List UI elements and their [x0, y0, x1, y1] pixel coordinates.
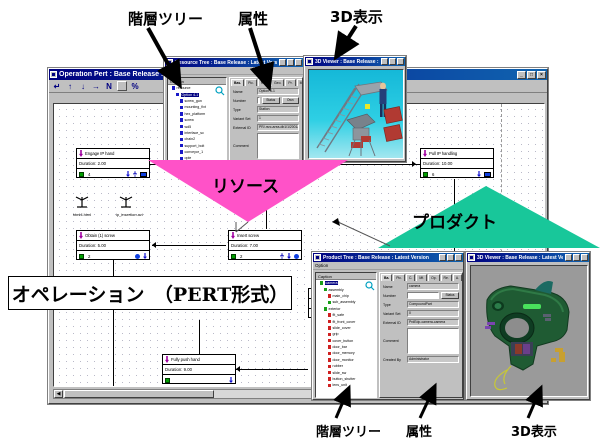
- tree-item-label: flt_safe: [333, 313, 345, 317]
- tree-item-label: hex_platform: [185, 112, 206, 116]
- callout-bottom-tree: 階層ツリー: [316, 421, 381, 440]
- tree-item-label: mounting_fixt: [185, 105, 206, 109]
- product-tree-window-buttons[interactable]: [439, 254, 462, 261]
- attribute-tab[interactable]: C.: [406, 274, 415, 281]
- box-icon[interactable]: [484, 172, 491, 177]
- document-icon[interactable]: html4.html: [72, 196, 92, 217]
- attribute-label: Name: [383, 285, 405, 289]
- attribute-label: Variant Set: [233, 117, 255, 121]
- tree-node-icon[interactable]: [324, 307, 328, 311]
- maximize-button[interactable]: [287, 59, 294, 66]
- attribute-textarea[interactable]: [407, 328, 459, 354]
- tree-node-icon[interactable]: [180, 125, 184, 129]
- window-app-icon: [468, 254, 475, 261]
- callout-top-3d: 3D表示: [330, 6, 383, 27]
- attribute-value[interactable]: PR/-rsrc-area-db1/1/2001/51/0/0/0/0: [257, 124, 299, 131]
- attribute-value[interactable]: 0: [407, 310, 459, 317]
- attribute-value[interactable]: [257, 97, 260, 104]
- resource-label: リソース: [212, 172, 279, 197]
- blue-icon[interactable]: [143, 253, 147, 259]
- pert-node-title: Engage IP hand: [85, 151, 114, 156]
- blue-icon[interactable]: [287, 253, 291, 259]
- viewer3d-top-title: 3D Viewer : Base Release : Latest Versio…: [315, 59, 379, 65]
- attribute-row: Created ByAdministrator: [383, 356, 459, 363]
- tree-node-icon[interactable]: [324, 288, 328, 292]
- product-label: プロダクト: [412, 208, 497, 233]
- viewer3d-bottom-scene: [471, 266, 588, 397]
- callout-bottom-3d: 3D表示: [511, 421, 557, 440]
- tree-column-header: Caption: [316, 273, 376, 280]
- product-tree-titlebar[interactable]: Product Tree : Base Release : Latest Ver…: [313, 253, 463, 262]
- operation-pert-label: オペレーション （PERT形式）: [12, 280, 289, 307]
- attribute-tab[interactable]: Pic.: [245, 79, 257, 86]
- callout-top-tree: 階層ツリー: [128, 8, 203, 29]
- window-app-icon: [306, 58, 313, 65]
- right-arrow-icon[interactable]: →: [91, 81, 101, 91]
- menu-option[interactable]: Option: [315, 263, 328, 268]
- attribute-label: Name: [233, 90, 255, 94]
- minimize-button[interactable]: [381, 58, 388, 65]
- window-app-icon: [50, 71, 57, 78]
- minimize-button[interactable]: [439, 254, 446, 261]
- product-tree-window[interactable]: Product Tree : Base Release : Latest Ver…: [312, 252, 464, 400]
- attribute-row: NameOption 4-1: [233, 88, 299, 95]
- tree-item-label: resource: [177, 86, 191, 90]
- attribute-tab[interactable]: Pic.: [393, 274, 405, 281]
- product-attribute-panel[interactable]: Ba.Pic.C.Mf.Op.Re.A.A. NamecameraNumberS…: [379, 272, 463, 398]
- pert-node[interactable]: Pull IP handlingDuration: 10.006: [420, 148, 494, 178]
- pert-node-header: Pull IP handling: [421, 149, 493, 159]
- status-square-icon: [79, 172, 84, 177]
- close-button[interactable]: [397, 58, 404, 65]
- tree-node-icon[interactable]: [180, 99, 184, 103]
- resource-attribute-fields[interactable]: NameOption 4-1NumberStatusOwnTypeStation…: [230, 88, 302, 163]
- pert-node[interactable]: Engage IP handDuration: 2.004: [76, 148, 150, 178]
- maximize-button[interactable]: [447, 254, 454, 261]
- status-square-icon: [165, 378, 170, 383]
- tree-node-icon[interactable]: [328, 339, 332, 343]
- tree-item-label: support_bolt: [185, 144, 205, 148]
- tree-item-label: sub_assembly: [333, 300, 356, 304]
- attribute-tab[interactable]: Mf.: [416, 274, 427, 281]
- viewer3d-bottom-title: 3D Viewer : Base Release : Latest Versio…: [477, 255, 563, 261]
- resource-tree-window[interactable]: Resource Tree : Base Release : Latest Ve…: [164, 57, 304, 165]
- viewer3d-top-window-buttons[interactable]: [381, 58, 404, 65]
- attribute-tab[interactable]: Pr.: [285, 79, 295, 86]
- tree-item-label: slide_sw: [333, 371, 347, 375]
- pert-node-count: 2: [240, 254, 242, 259]
- tree-item-label: Option 4-1: [181, 93, 200, 97]
- status-square-icon: [423, 172, 428, 177]
- document-icon[interactable]: ip_insertion.avi: [116, 196, 136, 217]
- attribute-row: External IDPR/-rsrc-area-db1/1/2001/51/0…: [233, 124, 299, 131]
- pert-node-duration: Duration: 2.00: [77, 159, 149, 169]
- screenshot-root: Operation Pert : Base Release : Latest V…: [0, 0, 600, 448]
- blue-icon[interactable]: [126, 171, 130, 177]
- attribute-tab[interactable]: Re.: [441, 274, 452, 281]
- attribute-row: NumberStatus: [383, 292, 459, 299]
- tree-item-label: flt_front_cover: [333, 320, 356, 324]
- tree-item-label: slide_cover: [333, 326, 351, 330]
- attribute-row: TypeCompoundPart: [383, 301, 459, 308]
- pert-node-duration: Duration: 9.00: [163, 365, 235, 375]
- pin-icon: [79, 232, 83, 239]
- product-tree-title: Product Tree : Base Release : Latest Ver…: [323, 255, 437, 261]
- viewer3d-bottom-window[interactable]: 3D Viewer : Base Release : Latest Versio…: [466, 252, 590, 400]
- blue-icon[interactable]: [477, 171, 481, 177]
- product-tree-menubar[interactable]: Option: [313, 262, 463, 270]
- tree-item-label: door_bar: [333, 345, 347, 349]
- tree-node-icon[interactable]: [180, 138, 184, 142]
- pin-icon: [165, 356, 169, 363]
- viewer3d-top-titlebar[interactable]: 3D Viewer : Base Release : Latest Versio…: [305, 57, 405, 66]
- tree-node-icon[interactable]: [328, 365, 332, 369]
- pert-node-count: 2: [88, 254, 90, 259]
- maximize-button[interactable]: [389, 58, 396, 65]
- person-icon[interactable]: [280, 253, 284, 259]
- document-icon-label: ip_insertion.avi: [116, 212, 136, 217]
- circ-icon[interactable]: [294, 254, 299, 259]
- resource-tree-list[interactable]: resourceOption 4-1screw_gunmounting_fixt…: [168, 85, 226, 163]
- tree-item-label: door_memory: [333, 351, 355, 355]
- tree-node-icon[interactable]: [328, 345, 332, 349]
- tree-item-label: button_shutter: [333, 377, 356, 381]
- resource-tree-menubar[interactable]: Option: [165, 67, 303, 75]
- pert-node-footer[interactable]: 2: [77, 251, 149, 261]
- tree-node-icon[interactable]: [172, 86, 176, 90]
- pert-connector: [152, 245, 226, 246]
- attribute-tab[interactable]: Bas.: [231, 79, 244, 86]
- attribute-label: Created By: [383, 358, 405, 362]
- tree-item-label: rubber: [333, 364, 343, 368]
- minimize-button[interactable]: [279, 59, 286, 66]
- attribute-row: TypeStation: [233, 106, 299, 113]
- minimize-button[interactable]: _: [517, 71, 526, 79]
- viewer3d-bottom-window-buttons[interactable]: [565, 254, 588, 261]
- product-tree-list[interactable]: cameraassemblymain_chipsub_assemblyexter…: [316, 280, 376, 389]
- attribute-tab[interactable]: A.: [453, 274, 462, 281]
- pert-connector: [199, 320, 200, 354]
- tree-item-label: cover_button: [333, 339, 354, 343]
- attribute-label: External ID: [233, 126, 255, 130]
- window-app-icon: [314, 254, 321, 261]
- N-icon[interactable]: N: [104, 81, 114, 91]
- close-button[interactable]: [455, 254, 462, 261]
- pert-node-footer[interactable]: 6: [421, 169, 493, 179]
- tree-node-icon[interactable]: [328, 326, 332, 330]
- tree-item-label: screw: [185, 118, 194, 122]
- attribute-value[interactable]: Administrator: [407, 356, 459, 363]
- resource-tree-titlebar[interactable]: Resource Tree : Base Release : Latest Ve…: [165, 58, 303, 67]
- attribute-label: Comment: [383, 339, 405, 343]
- tree-item-label: camera: [325, 281, 339, 285]
- tree-node-icon[interactable]: [180, 150, 184, 154]
- product-attribute-tabs[interactable]: Ba.Pic.C.Mf.Op.Re.A.A.: [380, 273, 462, 281]
- pert-node-footer[interactable]: 2: [229, 251, 301, 261]
- pert-node[interactable]: Insert screwDuration: 7.002: [228, 230, 302, 260]
- minimize-button[interactable]: [565, 254, 572, 261]
- tree-item-label: wd5: [185, 125, 192, 129]
- up-arrow-icon[interactable]: ↑: [65, 81, 75, 91]
- attribute-label: External ID: [383, 321, 405, 325]
- attribute-row: Variant Set0: [383, 310, 459, 317]
- grid-icon[interactable]: [117, 81, 127, 91]
- tree-node-icon[interactable]: [176, 93, 180, 97]
- tree-item-label: assembly: [329, 288, 344, 292]
- viewer3d-top-canvas[interactable]: [308, 69, 404, 159]
- down-arrow-icon[interactable]: ↓: [78, 81, 88, 91]
- attribute-value[interactable]: Station: [257, 106, 299, 113]
- pert-node-title: Insert screw: [237, 233, 259, 238]
- attribute-value[interactable]: camera: [407, 283, 459, 290]
- attribute-value[interactable]: [407, 292, 439, 299]
- attribute-tab[interactable]: Ba.: [381, 274, 392, 281]
- resource-tree-title: Resource Tree : Base Release : Latest Ve…: [175, 60, 277, 66]
- maximize-button[interactable]: [573, 254, 580, 261]
- tree-node-icon[interactable]: [328, 294, 332, 298]
- tree-node-icon[interactable]: [180, 144, 184, 148]
- person-icon[interactable]: [133, 171, 137, 177]
- pin-icon: [79, 150, 83, 157]
- tree-node-icon[interactable]: [328, 333, 332, 337]
- tree-item-label: conveyor_1: [185, 150, 204, 154]
- pert-node-header: Fully push hand: [163, 355, 235, 365]
- pin-icon: [423, 150, 427, 157]
- box-icon[interactable]: [140, 172, 147, 177]
- pert-arrowhead: [236, 366, 240, 372]
- attribute-label: Number: [383, 294, 405, 298]
- document-glyph-icon: [72, 196, 92, 211]
- attribute-value[interactable]: Option 4-1: [257, 88, 299, 95]
- callout-bottom-attributes: 属性: [406, 421, 432, 440]
- attribute-tab[interactable]: Ref.: [258, 79, 270, 86]
- attribute-label: Type: [233, 108, 255, 112]
- tree-item[interactable]: lens_unit: [316, 382, 376, 388]
- viewer3d-bottom-titlebar[interactable]: 3D Viewer : Base Release : Latest Versio…: [467, 253, 589, 262]
- tree-item-label: exterior: [329, 307, 341, 311]
- maximize-button[interactable]: □: [527, 71, 536, 79]
- tree-column-header: Caption: [168, 78, 226, 85]
- pert-node-title: Pull IP handling: [429, 151, 457, 156]
- close-button[interactable]: [581, 254, 588, 261]
- status-square-icon: [231, 254, 236, 259]
- attribute-status-button[interactable]: Status: [441, 292, 459, 299]
- tree-node-icon[interactable]: [328, 384, 332, 388]
- close-button[interactable]: [295, 59, 302, 66]
- document-glyph-icon: [116, 196, 136, 211]
- attribute-tab[interactable]: Mfg.: [297, 79, 303, 86]
- pin-icon: [231, 232, 235, 239]
- operation-pert-window-buttons[interactable]: _ □ ×: [517, 71, 546, 79]
- pert-node-duration: Duration: 7.00: [229, 241, 301, 251]
- viewer3d-bottom-canvas[interactable]: [470, 265, 588, 397]
- pert-node-title: Fully push hand: [171, 357, 200, 362]
- tree-node-icon[interactable]: [320, 281, 324, 285]
- tree-node-icon[interactable]: [180, 118, 184, 122]
- attribute-row: Variant Set1: [233, 115, 299, 122]
- attribute-owner-button[interactable]: Own: [282, 97, 300, 104]
- resource-attribute-tabs[interactable]: Bas.Pic.Ref.Geo.Pr.Mfg.A.A.: [230, 78, 302, 86]
- magnifier-icon: [365, 281, 375, 291]
- attribute-value[interactable]: 1: [257, 115, 299, 122]
- attribute-value[interactable]: CompoundPart: [407, 301, 459, 308]
- attribute-row: NumberStatusOwn: [233, 97, 299, 104]
- tree-node-icon[interactable]: [328, 320, 332, 324]
- attribute-value[interactable]: PrdEdp-camera-camera: [407, 319, 459, 326]
- callout-top-attributes: 属性: [238, 8, 268, 29]
- attribute-row: Comment: [383, 328, 459, 354]
- pert-node-footer[interactable]: 4: [77, 169, 149, 179]
- attribute-row: Namecamera: [383, 283, 459, 290]
- resource-tree-window-buttons[interactable]: [279, 59, 302, 66]
- document-icon-label: html4.html: [72, 212, 92, 217]
- tree-node-icon[interactable]: [180, 106, 184, 110]
- undo-icon[interactable]: ↵: [52, 81, 62, 91]
- attribute-tab[interactable]: Op.: [428, 274, 439, 281]
- tree-node-icon[interactable]: [328, 371, 332, 375]
- resource-attribute-panel[interactable]: Bas.Pic.Ref.Geo.Pr.Mfg.A.A. NameOption 4…: [229, 77, 303, 163]
- attribute-row: Comment: [233, 133, 299, 159]
- attribute-label: Number: [233, 99, 255, 103]
- attribute-label: Comment: [233, 144, 255, 148]
- pert-node-title: Obtain (1) screw: [85, 233, 115, 238]
- product-attribute-fields[interactable]: NamecameraNumberStatusTypeCompoundPartVa…: [380, 283, 462, 363]
- circ-icon[interactable]: [135, 254, 140, 259]
- tree-item-label: main_chip: [333, 294, 349, 298]
- viewer3d-top-window[interactable]: 3D Viewer : Base Release : Latest Versio…: [304, 56, 406, 162]
- tree-item-label: screw_gun: [185, 99, 202, 103]
- tree-node-icon[interactable]: [328, 301, 332, 305]
- close-button[interactable]: ×: [537, 71, 546, 79]
- attribute-textarea[interactable]: [257, 133, 299, 159]
- tree-node-icon[interactable]: [328, 377, 332, 381]
- tree-node-icon[interactable]: [180, 112, 184, 116]
- window-app-icon: [166, 59, 173, 66]
- magnifier-icon: [215, 86, 225, 96]
- tree-item-label: grip: [333, 332, 339, 336]
- pert-node-duration: Duration: 5.00: [77, 241, 149, 251]
- tree-node-icon[interactable]: [328, 352, 332, 356]
- attribute-row: External IDPrdEdp-camera-camera: [383, 319, 459, 326]
- pert-node[interactable]: Fully push handDuration: 9.00: [162, 354, 236, 384]
- tree-node-icon[interactable]: [328, 358, 332, 362]
- pert-node-duration: Duration: 10.00: [421, 159, 493, 169]
- tree-item-label: chain2: [185, 137, 196, 141]
- pert-node-count: 6: [432, 172, 434, 177]
- scroll-left-button[interactable]: ◀: [54, 390, 63, 398]
- pert-node[interactable]: Obtain (1) screwDuration: 5.002: [76, 230, 150, 260]
- pert-node-header: Insert screw: [229, 231, 301, 241]
- blue-icon[interactable]: [229, 377, 233, 383]
- attribute-tab[interactable]: Geo.: [271, 79, 284, 86]
- pert-arrowhead: [412, 161, 416, 167]
- attribute-status-button[interactable]: Status: [262, 97, 280, 104]
- menu-option[interactable]: Option: [167, 68, 180, 73]
- pert-node-header: Engage IP hand: [77, 149, 149, 159]
- link-icon[interactable]: %: [130, 81, 140, 91]
- viewer3d-top-scene: [309, 70, 404, 159]
- attribute-label: Type: [383, 303, 405, 307]
- attribute-label: Variant Set: [383, 312, 405, 316]
- pert-connector: [236, 369, 308, 370]
- pert-node-header: Obtain (1) screw: [77, 231, 149, 241]
- pert-node-footer[interactable]: [163, 375, 235, 385]
- tree-item-label: lens_unit: [333, 383, 347, 387]
- tree-node-icon[interactable]: [328, 313, 332, 317]
- tree-node-icon[interactable]: [180, 131, 184, 135]
- tree-item-label: interface_sc: [185, 131, 204, 135]
- pert-node-count: 4: [88, 172, 90, 177]
- operation-pert-label-box: オペレーション （PERT形式）: [8, 276, 292, 310]
- pert-arrowhead: [152, 242, 156, 248]
- tree-item-label: door_monitor: [333, 358, 354, 362]
- status-square-icon: [79, 254, 84, 259]
- scroll-thumb[interactable]: [64, 390, 214, 398]
